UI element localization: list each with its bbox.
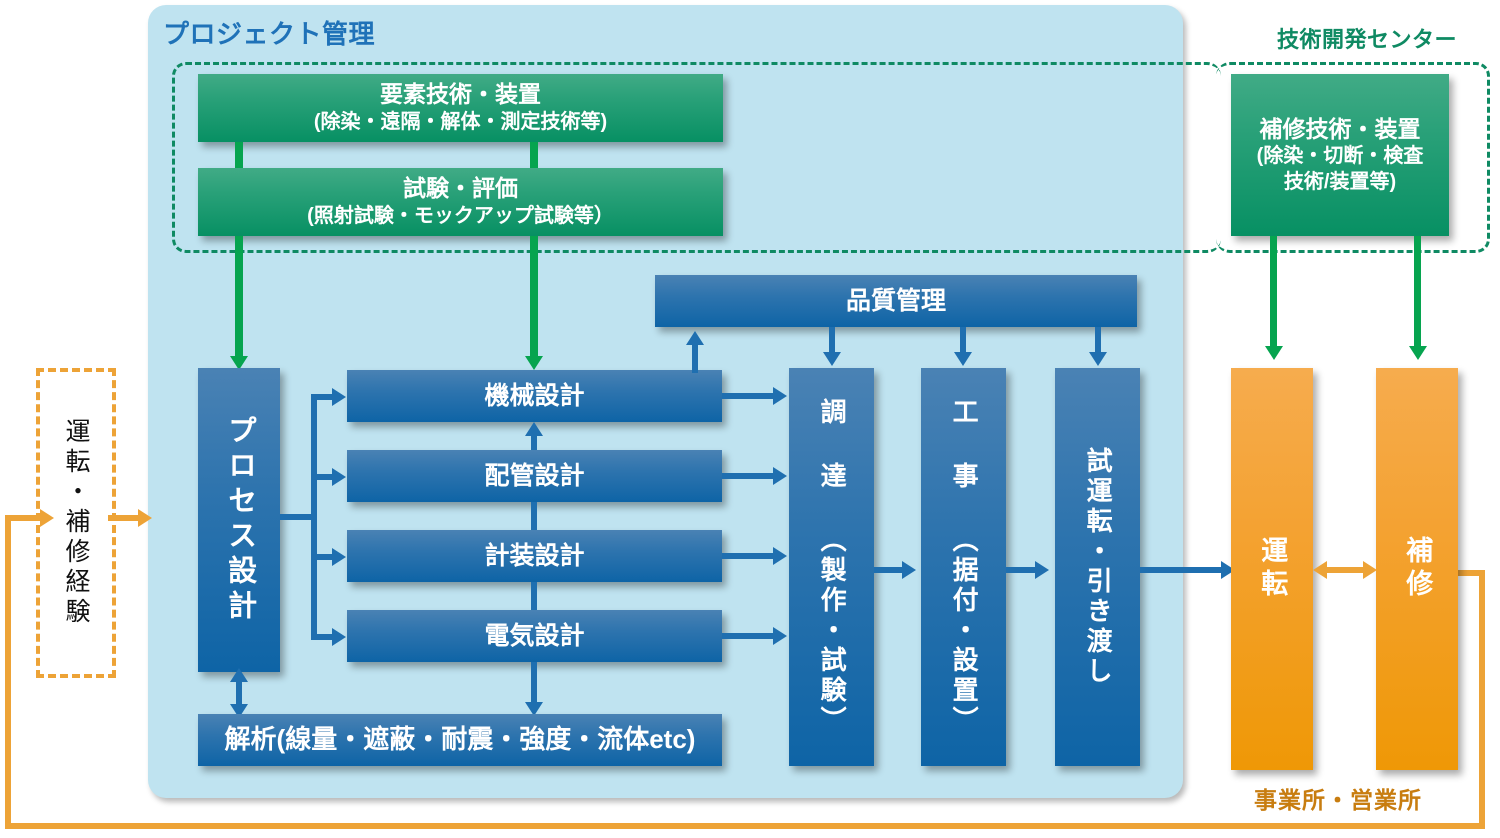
const-to-comm-arrow <box>1035 561 1049 579</box>
instrumentation-design-box[interactable]: 計装設計 <box>347 530 722 582</box>
procurement-box[interactable]: 調 達 （製作・試験） <box>789 368 874 766</box>
inst-to-proc-line <box>722 553 777 559</box>
repair-technology-line3: 技術/装置等) <box>1284 170 1396 196</box>
operation-repair-arrow-left <box>1313 561 1327 579</box>
quality-management-box[interactable]: 品質管理 <box>655 275 1137 327</box>
element-technology-line1: 要素技術・装置 <box>380 80 541 109</box>
tech-center-title: 技術開発センター <box>1277 22 1457 54</box>
test-evaluation-line2: (照射試験・モックアップ試験等） <box>307 204 614 230</box>
qm-down-arrow-3 <box>1089 352 1107 366</box>
branch-arrow-1 <box>332 388 346 406</box>
green-link-b2 <box>530 236 538 358</box>
operation-repair-link <box>1322 567 1367 573</box>
green-link-operation <box>1270 236 1277 348</box>
qm-down-line-3 <box>1095 327 1101 353</box>
orange-arrow-process <box>138 509 152 527</box>
construction-label: 工 事 （据付・設置） <box>947 398 980 736</box>
elec-to-proc-arrow <box>773 627 787 645</box>
green-link-repair <box>1414 236 1421 348</box>
electrical-design-label: 電気設計 <box>484 620 584 652</box>
inst-to-proc-arrow <box>773 547 787 565</box>
test-evaluation-line1: 試験・評価 <box>403 174 518 203</box>
proc-to-const-arrow <box>902 561 916 579</box>
repair-box[interactable]: 補修 <box>1376 368 1458 770</box>
piping-design-label: 配管設計 <box>484 460 584 492</box>
green-link-a2 <box>235 236 243 358</box>
green-link-b1 <box>530 142 538 168</box>
analysis-box[interactable]: 解析(線量・遮蔽・耐震・強度・流体etc) <box>198 714 722 766</box>
test-evaluation-box[interactable]: 試験・評価 (照射試験・モックアップ試験等） <box>198 168 723 236</box>
design-chain-2 <box>531 502 537 530</box>
qm-down-arrow-1 <box>823 352 841 366</box>
electrical-design-box[interactable]: 電気設計 <box>347 610 722 662</box>
procurement-label: 調 達 （製作・試験） <box>815 398 848 736</box>
qm-up-arrow <box>686 331 704 345</box>
piping-design-box[interactable]: 配管設計 <box>347 450 722 502</box>
branch-arrow-3 <box>332 548 346 566</box>
qm-up-line <box>692 345 698 373</box>
orange-feedback-right <box>1479 570 1485 829</box>
diagram-canvas: プロジェクト管理 技術開発センター 要素技術・装置 (除染・遠隔・解体・測定技術… <box>0 0 1500 838</box>
design-chain-arrow-1 <box>525 422 543 436</box>
comm-to-operation-line <box>1140 567 1225 573</box>
qm-down-line-2 <box>960 327 966 353</box>
process-design-box[interactable]: プロセス設計 <box>198 368 280 672</box>
design-chain-4 <box>531 662 537 704</box>
pipe-to-proc-arrow <box>773 467 787 485</box>
construction-box[interactable]: 工 事 （据付・設置） <box>921 368 1006 766</box>
branch-arrow-2 <box>332 468 346 486</box>
mech-to-proc-arrow <box>773 387 787 405</box>
qm-down-line-1 <box>829 327 835 353</box>
repair-technology-line1: 補修技術・装置 <box>1260 115 1421 144</box>
repair-label: 補修 <box>1400 536 1435 602</box>
process-design-label: プロセス設計 <box>220 415 257 625</box>
analysis-label: 解析(線量・遮蔽・耐震・強度・流体etc) <box>225 723 696 756</box>
orange-feedback-bottom <box>5 823 1485 829</box>
operation-box[interactable]: 運転 <box>1231 368 1313 770</box>
experience-label: 運転・補修経験 <box>58 418 94 628</box>
element-technology-line2: (除染・遠隔・解体・測定技術等) <box>314 110 607 136</box>
green-arrow-repair <box>1409 346 1427 360</box>
elec-to-proc-line <box>722 633 777 639</box>
mechanical-design-box[interactable]: 機械設計 <box>347 370 722 422</box>
quality-management-label: 品質管理 <box>846 285 946 317</box>
element-technology-box[interactable]: 要素技術・装置 (除染・遠隔・解体・測定技術等) <box>198 74 723 142</box>
green-arrow-operation <box>1265 346 1283 360</box>
operation-repair-arrow-right <box>1363 561 1377 579</box>
operation-label: 運転 <box>1255 536 1290 602</box>
project-management-title: プロジェクト管理 <box>163 14 375 51</box>
pipe-to-proc-line <box>722 473 777 479</box>
commissioning-box[interactable]: 試運転・引き渡し <box>1055 368 1140 766</box>
orange-arrow-into-exp <box>40 509 54 527</box>
green-link-a1 <box>235 142 243 168</box>
process-analysis-arrow-up <box>230 668 248 682</box>
site-office-title: 事業所・営業所 <box>1254 781 1422 815</box>
repair-technology-line2: (除染・切断・検査 <box>1257 144 1424 170</box>
mech-to-proc-line <box>722 393 777 399</box>
green-arrow-mechanical-design <box>525 356 543 370</box>
branch-spine <box>311 394 317 634</box>
mechanical-design-label: 機械設計 <box>484 380 584 412</box>
design-chain-3 <box>531 582 537 610</box>
commissioning-label: 試運転・引き渡し <box>1081 447 1114 687</box>
repair-technology-box[interactable]: 補修技術・装置 (除染・切断・検査 技術/装置等) <box>1231 74 1449 236</box>
branch-arrow-4 <box>332 628 346 646</box>
qm-down-arrow-2 <box>954 352 972 366</box>
instrumentation-design-label: 計装設計 <box>484 540 584 572</box>
orange-feedback-left <box>5 515 11 829</box>
